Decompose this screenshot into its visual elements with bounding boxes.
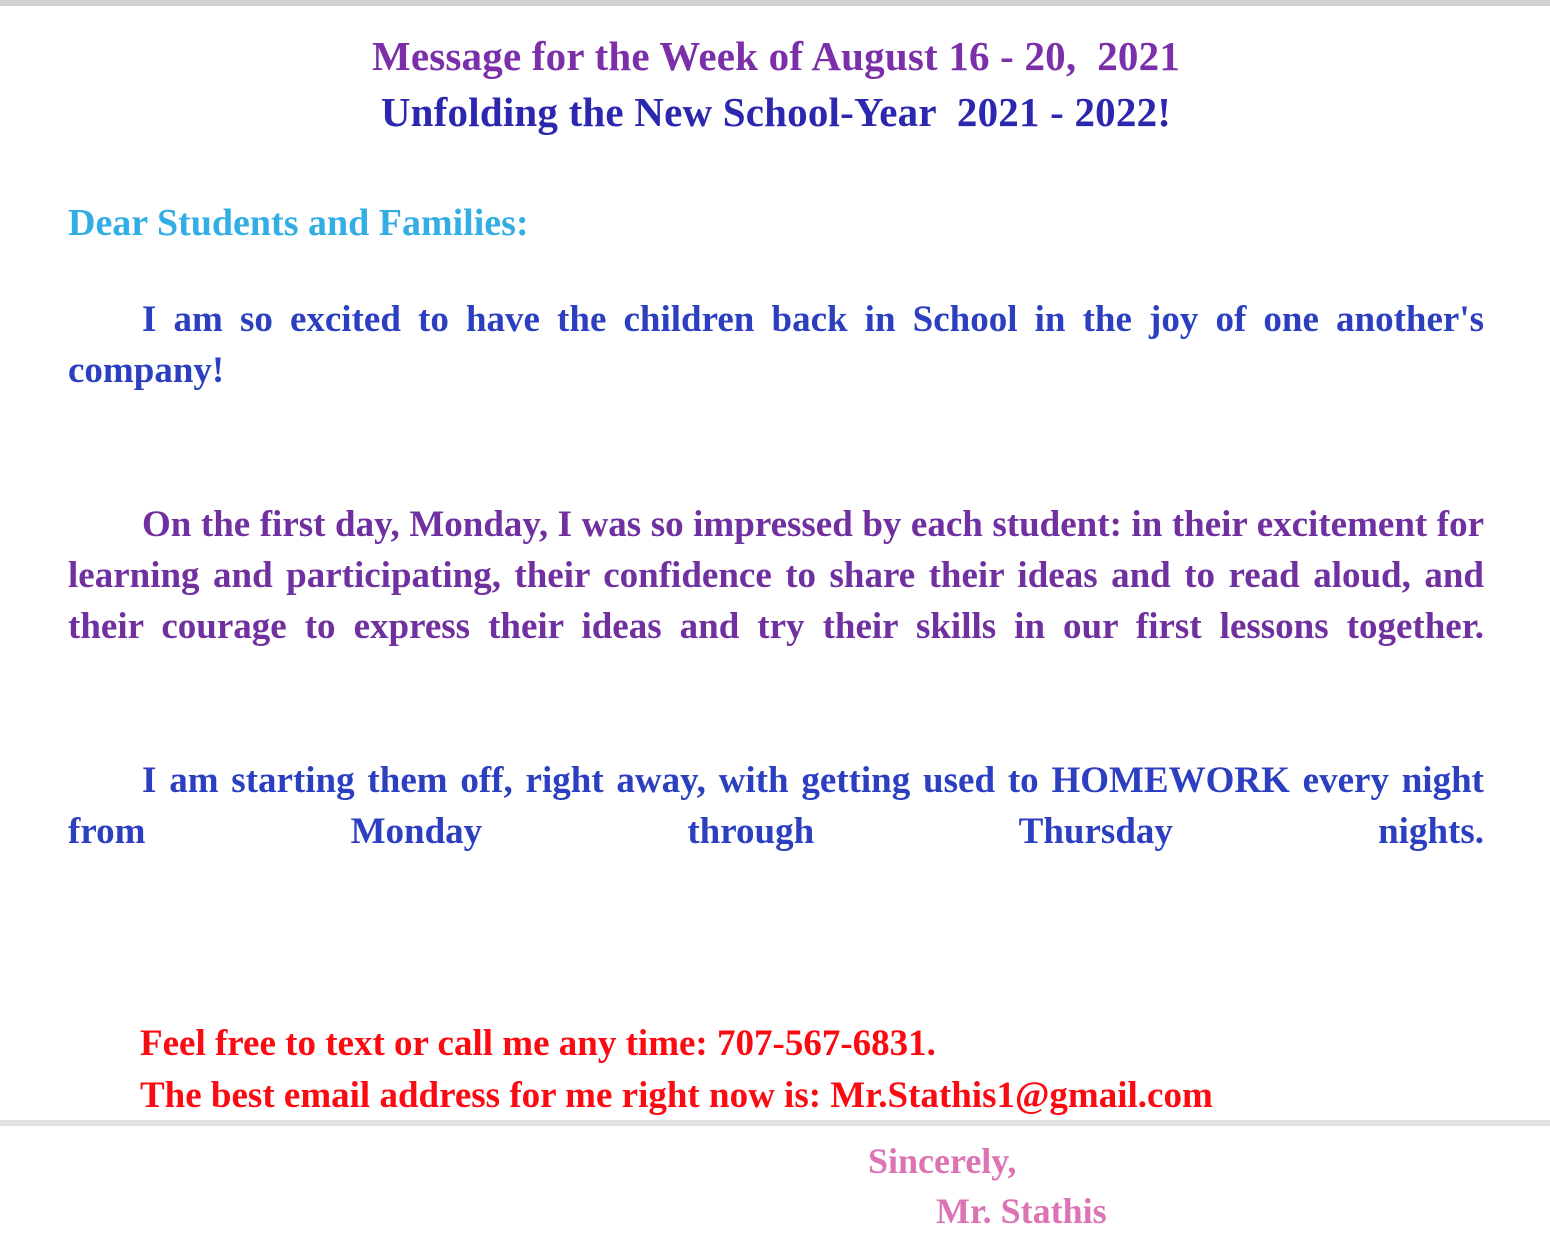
title-line-school-year: Unfolding the New School-Year 2021 - 202… [68, 84, 1484, 140]
paragraph-excitement: I am so excited to have the children bac… [68, 294, 1484, 447]
signature-block: Sincerely, Mr. Stathis [868, 1136, 1484, 1236]
contact-block: Feel free to text or call me any time: 7… [140, 1018, 1484, 1122]
salutation: Dear Students and Families: [68, 200, 1484, 246]
paragraph-homework: I am starting them off, right away, with… [68, 755, 1484, 908]
paragraph-first-day: On the first day, Monday, I was so impre… [68, 499, 1484, 703]
contact-phone-line: Feel free to text or call me any time: 7… [140, 1018, 1484, 1070]
window-chrome-bottom-band [0, 1120, 1550, 1126]
signature-closing: Sincerely, [868, 1136, 1484, 1186]
newsletter-page: Message for the Week of August 16 - 20, … [0, 0, 1550, 1126]
signature-name: Mr. Stathis [936, 1186, 1484, 1236]
title-line-week: Message for the Week of August 16 - 20, … [68, 28, 1484, 84]
contact-email-line: The best email address for me right now … [140, 1070, 1484, 1122]
page-title: Message for the Week of August 16 - 20, … [68, 28, 1484, 140]
document-content: Message for the Week of August 16 - 20, … [68, 6, 1484, 1236]
